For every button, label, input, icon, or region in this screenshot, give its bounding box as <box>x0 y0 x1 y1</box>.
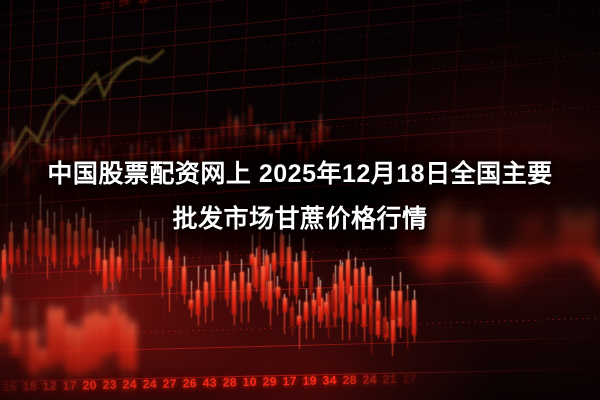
candle-body <box>417 247 427 272</box>
headline-line-1: 中国股票配资网上 2025年12月18日全国主要 <box>24 152 576 197</box>
headline-line-2: 批发市场甘蔗价格行情 <box>24 197 576 242</box>
headline: 中国股票配资网上 2025年12月18日全国主要 批发市场甘蔗价格行情 <box>0 152 600 242</box>
banner-image: 22242628302821302725 1618121720232424272… <box>0 0 600 400</box>
candle-body <box>508 243 518 286</box>
candle-body <box>495 260 505 283</box>
candlestick <box>508 236 518 300</box>
candlestick <box>417 243 427 287</box>
candlestick <box>482 239 492 300</box>
candle-body <box>482 249 492 279</box>
candlestick <box>495 249 505 302</box>
